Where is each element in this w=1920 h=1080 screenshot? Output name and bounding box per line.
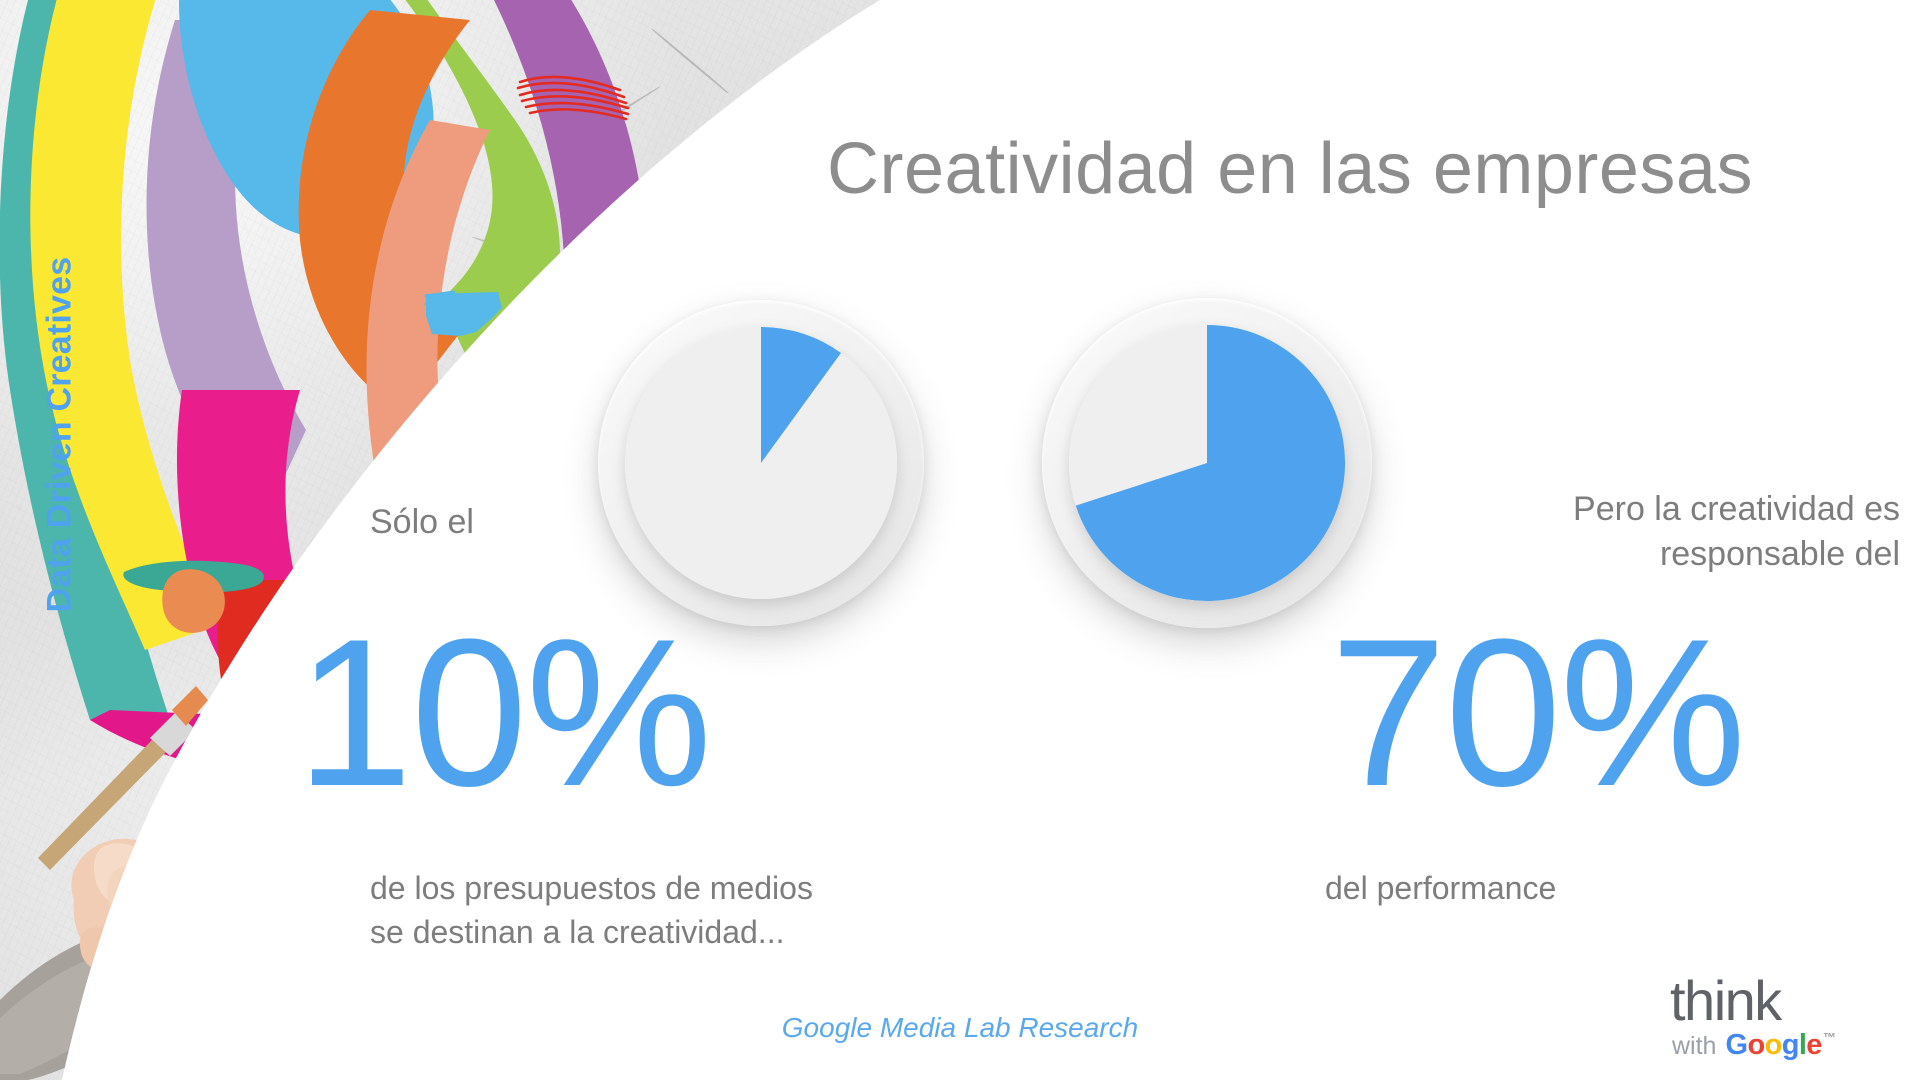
pie-svg-left [625,327,897,599]
logo-google-wordmark: Google™ [1725,1029,1835,1062]
left-stat-value: 10% [296,608,710,818]
wall-scratch [440,377,509,465]
pie-outer-ring [1042,298,1372,628]
wall-scratch [182,848,208,914]
logo-with-text: with [1672,1032,1716,1061]
hand-with-paintbrush [0,600,330,1080]
right-stat-caption-line1: del performance [1325,866,1556,910]
right-stat-caption: del performance [1325,866,1556,910]
left-stat-lead-in: Sólo el [370,500,474,545]
left-stat-caption-line1: de los presupuestos de medios [370,866,813,910]
logo-google-letter-g: G [1725,1029,1747,1061]
red-brush-stroke [516,70,636,125]
logo-google-letter-o2: o [1765,1029,1782,1061]
logo-google-letter-o1: o [1747,1029,1764,1061]
left-stat-caption-line2: se destinan a la creatividad... [370,910,813,954]
pie-chart-presupuestos [598,300,924,626]
pie-inner-disc [1069,325,1345,601]
blue-brush-stroke [424,290,504,340]
logo-with-google-row: with Google™ [1664,1029,1894,1062]
right-stat-value: 70% [1330,608,1744,818]
right-stat-lead-in-line2: responsable del [1340,532,1900,577]
pie-inner-disc [625,327,897,599]
source-credit: Google Media Lab Research [0,1012,1920,1044]
right-stat-lead-in: Pero la creatividad es responsable del [1340,487,1900,577]
right-stat-lead-in-line1: Pero la creatividad es [1340,487,1900,532]
left-stat-caption: de los presupuestos de medios se destina… [370,866,813,954]
pie-svg-right [1069,325,1345,601]
think-with-google-logo: think with Google™ [1664,974,1894,1062]
pie-outer-ring [598,300,924,626]
logo-think-wordmark: think [1664,974,1894,1028]
page-title: Creatividad en las empresas [700,128,1880,210]
logo-google-letter-e: e [1806,1029,1822,1061]
pie-chart-performance [1042,298,1372,628]
vertical-tagline: Data Driven Creatives [41,235,80,635]
logo-google-letter-g2: g [1782,1029,1799,1061]
logo-trademark-symbol: ™ [1823,1030,1835,1045]
infographic-slide: Data Driven Creatives Creatividad en las… [0,0,1920,1080]
